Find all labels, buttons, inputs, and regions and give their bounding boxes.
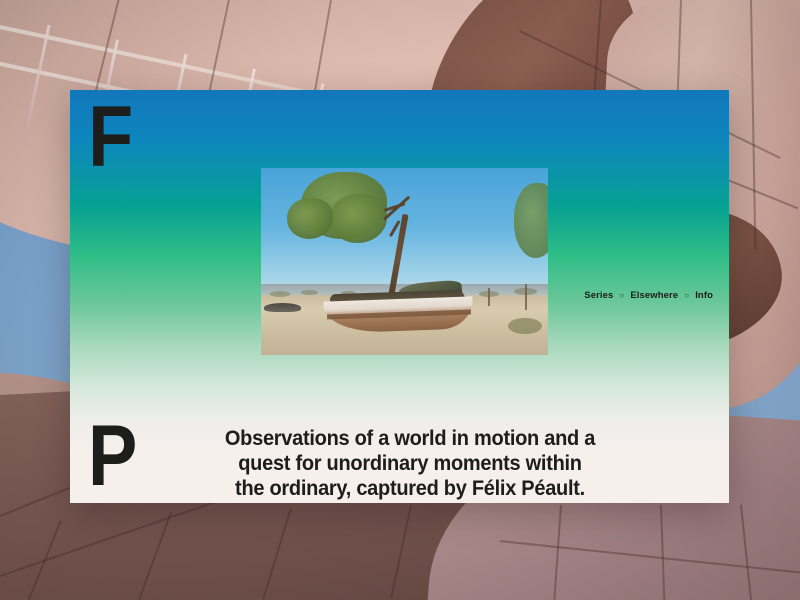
portfolio-card: F P [70, 90, 729, 503]
nav-item-series[interactable]: Series [584, 290, 613, 301]
headline-statement: Observations of a world in motion and a … [224, 426, 596, 501]
screenshot-stage: F P [0, 0, 800, 600]
nav-item-info[interactable]: Info [695, 290, 713, 301]
logo-letter-p: P [88, 423, 136, 490]
photo-foreground-debris [264, 303, 301, 312]
nav-separator-icon: ○ [619, 292, 624, 300]
nav-item-elsewhere[interactable]: Elsewhere [630, 290, 678, 301]
nav-separator-icon: ○ [684, 292, 689, 300]
logo-letter-f: F [88, 104, 131, 171]
photo-content [261, 168, 548, 355]
featured-photo[interactable] [261, 168, 548, 355]
card-navigation[interactable]: Series ○ Elsewhere ○ Info [584, 290, 713, 301]
